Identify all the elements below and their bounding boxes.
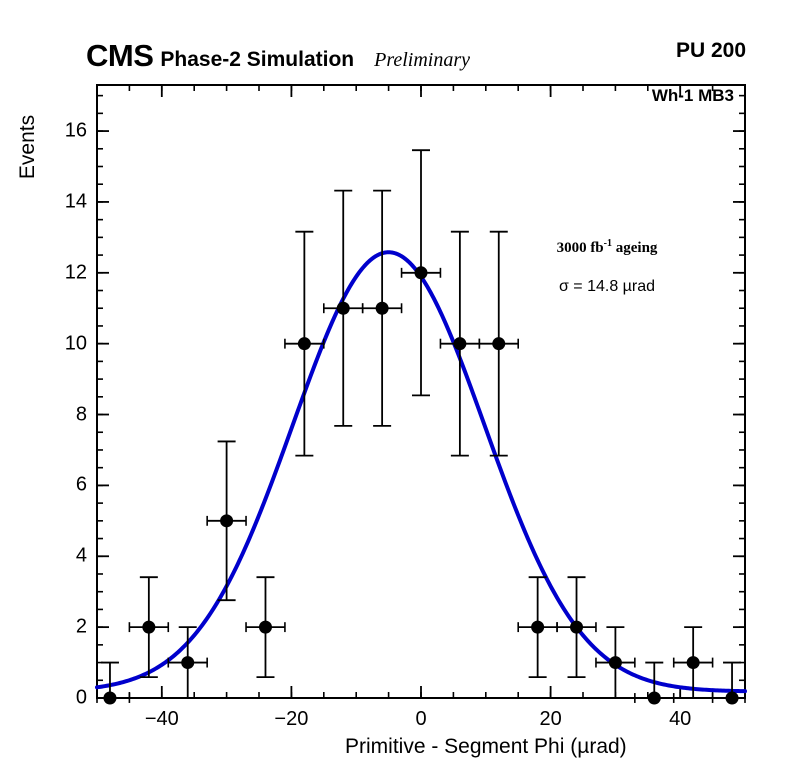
data-point (142, 621, 155, 634)
data-point (726, 692, 739, 705)
data-point (648, 692, 661, 705)
error-bars (97, 150, 745, 703)
y-tick-label: 0 (39, 687, 87, 710)
data-point (609, 656, 622, 669)
data-point (103, 692, 116, 705)
y-tick-label: 8 (39, 403, 87, 426)
data-point (415, 266, 428, 279)
plot-canvas: CMS Phase-2 Simulation Preliminary PU 20… (0, 0, 796, 772)
plot-area (0, 0, 796, 772)
x-tick-label: −20 (274, 708, 308, 731)
data-point (531, 621, 544, 634)
data-point (453, 337, 466, 350)
y-tick-label: 4 (39, 545, 87, 568)
data-point (259, 621, 272, 634)
data-point (687, 656, 700, 669)
y-tick-label: 6 (39, 474, 87, 497)
x-tick-label: 20 (539, 708, 561, 731)
y-tick-label: 2 (39, 616, 87, 639)
y-tick-label: 12 (39, 261, 87, 284)
data-point (376, 302, 389, 315)
y-tick-label: 10 (39, 332, 87, 355)
data-point (337, 302, 350, 315)
x-tick-label: 40 (669, 708, 691, 731)
x-tick-label: 0 (415, 708, 426, 731)
data-point (298, 337, 311, 350)
data-point (492, 337, 505, 350)
data-point (570, 621, 583, 634)
y-tick-label: 14 (39, 190, 87, 213)
y-tick-label: 16 (39, 120, 87, 143)
data-point (181, 656, 194, 669)
data-point (220, 514, 233, 527)
x-tick-label: −40 (145, 708, 179, 731)
